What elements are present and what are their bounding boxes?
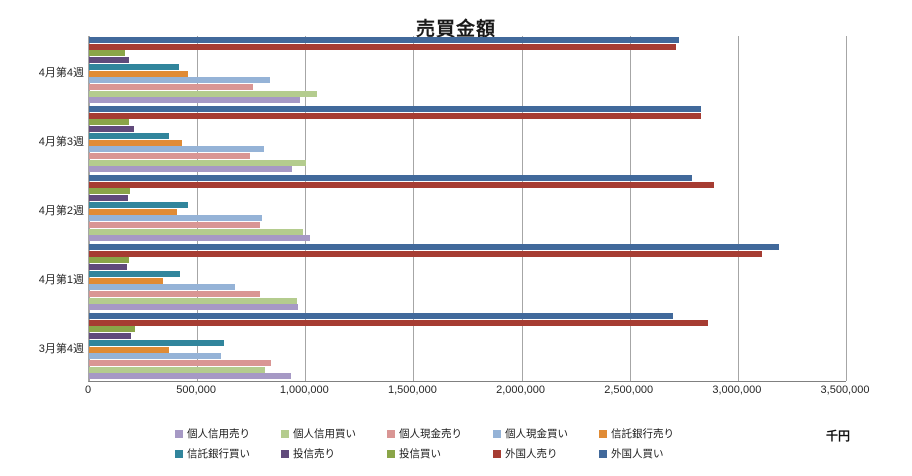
bar-row [89,119,129,125]
legend-label: 外国人買い [611,449,664,460]
bar-row [89,215,262,221]
x-axis-tick-label: 1,500,000 [367,384,457,396]
legend-swatch-icon [281,430,289,438]
legend-swatch-icon [281,450,289,458]
bar-group [89,106,846,173]
bar[interactable] [89,367,265,373]
bar[interactable] [89,202,188,208]
y-axis-category-label: 4月第2週 [0,202,84,218]
bar[interactable] [89,77,270,83]
bar[interactable] [89,50,125,56]
y-axis-category-label: 4月第4週 [0,64,84,80]
bar-row [89,84,253,90]
bar[interactable] [89,166,292,172]
bar[interactable] [89,215,262,221]
bar[interactable] [89,209,177,215]
legend-label: 投信買い [399,449,441,460]
bar[interactable] [89,106,701,112]
bar[interactable] [89,244,779,250]
legend-item[interactable]: 外国人売り [493,444,599,464]
legend-swatch-icon [493,430,501,438]
bar-row [89,153,250,159]
legend-swatch-icon [387,430,395,438]
legend-label: 個人現金売り [399,429,462,440]
bar[interactable] [89,126,134,132]
bar-row [89,37,679,43]
bar[interactable] [89,251,762,257]
x-axis-tick-label: 3,000,000 [692,384,782,396]
x-axis-tick-labels: 0500,0001,000,0001,500,0002,000,0002,500… [0,384,912,404]
legend-label: 個人信用買い [293,429,356,440]
legend-item[interactable]: 投信売り [281,444,387,464]
legend-item[interactable]: 信託銀行売り [599,424,705,444]
y-axis-category-label: 4月第1週 [0,271,84,287]
legend-swatch-icon [493,450,501,458]
legend-swatch-icon [175,450,183,458]
legend-item[interactable]: 個人現金買い [493,424,599,444]
bar-row [89,202,188,208]
bar[interactable] [89,284,235,290]
x-axis-tick-label: 1,000,000 [259,384,349,396]
bar[interactable] [89,229,303,235]
bar[interactable] [89,264,127,270]
bar-row [89,91,317,97]
bar[interactable] [89,235,310,241]
bar-row [89,77,270,83]
bar[interactable] [89,160,306,166]
bar[interactable] [89,320,708,326]
bar[interactable] [89,57,129,63]
chart-legend: 個人信用売り個人信用買い個人現金売り個人現金買い信託銀行売り信託銀行買い投信売り… [175,424,705,464]
bar-row [89,367,265,373]
bar-row [89,244,779,250]
bar-row [89,304,298,310]
bar[interactable] [89,44,676,50]
bar[interactable] [89,347,169,353]
bar[interactable] [89,313,673,319]
bar-row [89,264,127,270]
bar[interactable] [89,140,182,146]
legend-item[interactable]: 投信買い [387,444,493,464]
bar[interactable] [89,188,130,194]
bar-group [89,37,846,104]
legend-label: 個人信用売り [187,429,250,440]
bar[interactable] [89,182,714,188]
bar-row [89,257,129,263]
bar-row [89,340,224,346]
bar-row [89,166,292,172]
bar-row [89,284,235,290]
bar[interactable] [89,119,129,125]
bar[interactable] [89,373,291,379]
bar-group [89,313,846,380]
x-axis-tick-label: 0 [43,384,133,396]
bar-row [89,182,714,188]
bar-row [89,126,134,132]
chart-container: 売買金額 4月第4週4月第3週4月第2週4月第1週3月第4週 0500,0001… [0,0,912,476]
bar[interactable] [89,153,250,159]
bar[interactable] [89,113,701,119]
bar-row [89,229,303,235]
y-axis-category-label: 4月第3週 [0,133,84,149]
y-axis-category-labels: 4月第4週4月第3週4月第2週4月第1週3月第4週 [0,36,84,381]
bar-row [89,235,310,241]
bar-row [89,106,701,112]
bar-row [89,160,306,166]
x-axis-tick-label: 3,500,000 [800,384,890,396]
x-axis-tick-label: 2,500,000 [584,384,674,396]
bar-row [89,320,708,326]
bar[interactable] [89,278,163,284]
legend-label: 投信売り [293,449,335,460]
legend-label: 外国人売り [505,449,558,460]
bar[interactable] [89,291,260,297]
bar[interactable] [89,84,253,90]
bar-row [89,251,762,257]
axis-unit-label: 千円 [826,427,850,444]
bar[interactable] [89,146,264,152]
bar-group [89,244,846,311]
bar-row [89,313,673,319]
bar[interactable] [89,222,260,228]
bar-row [89,271,180,277]
bar-row [89,373,291,379]
gridline [846,36,847,381]
legend-swatch-icon [599,450,607,458]
bar[interactable] [89,326,135,332]
bar[interactable] [89,271,180,277]
bar-row [89,298,297,304]
legend-item[interactable]: 個人信用買い [281,424,387,444]
legend-item[interactable]: 信託銀行買い [175,444,281,464]
bar[interactable] [89,360,271,366]
legend-label: 信託銀行売り [611,429,674,440]
bar[interactable] [89,91,317,97]
bar[interactable] [89,353,221,359]
bar-row [89,188,130,194]
bar[interactable] [89,133,169,139]
bar-row [89,333,131,339]
bar-row [89,71,188,77]
bar[interactable] [89,257,129,263]
bar[interactable] [89,340,224,346]
legend-label: 信託銀行買い [187,449,250,460]
legend-item[interactable]: 外国人買い [599,444,705,464]
bar-row [89,195,128,201]
bar-row [89,50,125,56]
bar-row [89,347,169,353]
bar-row [89,209,177,215]
bar-group [89,175,846,242]
legend-swatch-icon [175,430,183,438]
bar-row [89,278,163,284]
bar-row [89,113,701,119]
bar-row [89,97,300,103]
x-axis-tick-label: 2,000,000 [476,384,566,396]
bar-row [89,326,135,332]
bar[interactable] [89,97,300,103]
bar-row [89,291,260,297]
plot-area [88,36,846,382]
x-axis-tick-label: 500,000 [151,384,241,396]
bar-row [89,146,264,152]
legend-item[interactable]: 個人現金売り [387,424,493,444]
bar[interactable] [89,304,298,310]
bar[interactable] [89,298,297,304]
legend-label: 個人現金買い [505,429,568,440]
bar-row [89,44,676,50]
bar-row [89,360,271,366]
bar-row [89,175,692,181]
bar[interactable] [89,64,179,70]
bar[interactable] [89,37,679,43]
legend-item[interactable]: 個人信用売り [175,424,281,444]
legend-swatch-icon [599,430,607,438]
bar[interactable] [89,195,128,201]
bar[interactable] [89,71,188,77]
bar-row [89,140,182,146]
bar[interactable] [89,175,692,181]
bar-row [89,57,129,63]
bar-row [89,222,260,228]
bar[interactable] [89,333,131,339]
y-axis-category-label: 3月第4週 [0,340,84,356]
bar-row [89,133,169,139]
bar-row [89,353,221,359]
legend-swatch-icon [387,450,395,458]
bar-row [89,64,179,70]
